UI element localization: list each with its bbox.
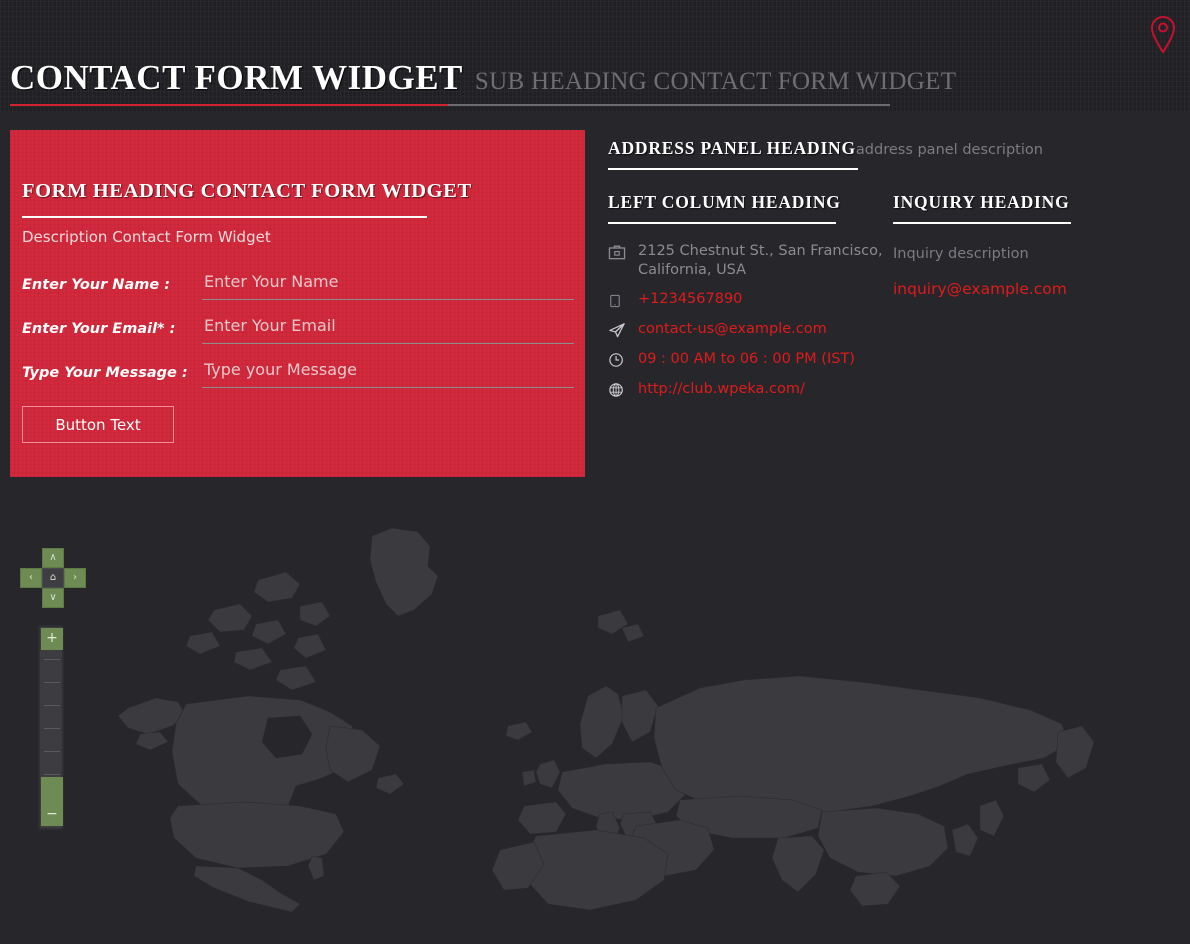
address-panel-heading-row: ADDRESS PANEL HEADING address panel desc…: [608, 138, 1168, 159]
map-pan-home-button[interactable]: ⌂: [42, 568, 64, 588]
address-right-column: INQUIRY HEADING Inquiry description inqu…: [893, 192, 1073, 410]
form-heading-divider: [22, 216, 427, 218]
page-subtitle: SUB HEADING CONTACT FORM WIDGET: [475, 68, 956, 96]
address-columns: LEFT COLUMN HEADING 2125 Chestnut St., S…: [608, 192, 1168, 410]
contact-item-hours: 09 : 00 AM to 06 : 00 PM (IST): [608, 350, 893, 370]
map-pan-pad[interactable]: ∧ ‹ ⌂ › ∨: [20, 548, 86, 610]
contact-item-website[interactable]: http://club.wpeka.com/: [608, 380, 893, 400]
map-zoom-tick: [44, 728, 60, 729]
map-pan-up-button[interactable]: ∧: [42, 548, 64, 568]
name-input[interactable]: [202, 270, 574, 300]
map-zoom-control[interactable]: + −: [38, 625, 64, 830]
address-panel-description: address panel description: [856, 142, 1043, 158]
contact-form-panel: FORM HEADING CONTACT FORM WIDGET Descrip…: [10, 130, 585, 477]
map-zoom-tick: [44, 751, 60, 752]
briefcase-icon: [608, 242, 632, 262]
map-pan-right-button[interactable]: ›: [64, 568, 86, 588]
inquiry-divider: [893, 222, 1071, 224]
mobile-phone-icon: [608, 290, 632, 310]
map-zoom-tick: [44, 705, 60, 706]
map-pin-icon: [1150, 15, 1176, 55]
map-pan-down-button[interactable]: ∨: [42, 588, 64, 608]
header-divider: [10, 104, 890, 106]
globe-icon: [608, 380, 632, 400]
inquiry-email[interactable]: inquiry@example.com: [893, 280, 1073, 298]
left-column-divider: [608, 222, 836, 224]
map-tiles: [0, 520, 1190, 912]
world-map[interactable]: ∧ ‹ ⌂ › ∨ + −: [0, 520, 1190, 912]
paper-plane-icon: [608, 320, 632, 340]
contact-item-address: 2125 Chestnut St., San Francisco, Califo…: [608, 242, 893, 280]
map-zoom-in-button[interactable]: +: [41, 628, 63, 650]
submit-button[interactable]: Button Text: [22, 406, 174, 443]
page-header: CONTACT FORM WIDGET SUB HEADING CONTACT …: [0, 0, 1190, 112]
map-zoom-tick: [44, 682, 60, 683]
form-row-name: Enter Your Name :: [22, 270, 574, 314]
form-row-message: Type Your Message :: [22, 358, 574, 402]
contact-item-email[interactable]: contact-us@example.com: [608, 320, 893, 340]
name-field-wrap: [202, 270, 574, 300]
email-input[interactable]: [202, 314, 574, 344]
name-label: Enter Your Name :: [22, 270, 202, 293]
message-label: Type Your Message :: [22, 358, 202, 381]
contact-email-text[interactable]: contact-us@example.com: [638, 320, 827, 339]
map-pan-left-button[interactable]: ‹: [20, 568, 42, 588]
contact-website-text[interactable]: http://club.wpeka.com/: [638, 380, 805, 399]
map-zoom-tick: [44, 659, 60, 660]
email-field-wrap: [202, 314, 574, 344]
address-panel-heading: ADDRESS PANEL HEADING: [608, 138, 856, 159]
contact-phone-text[interactable]: +1234567890: [638, 290, 742, 309]
form-row-email: Enter Your Email* :: [22, 314, 574, 358]
contact-hours-text: 09 : 00 AM to 06 : 00 PM (IST): [638, 350, 855, 369]
email-label: Enter Your Email* :: [22, 314, 202, 337]
contact-address-text: 2125 Chestnut St., San Francisco, Califo…: [638, 242, 893, 280]
map-zoom-tick: [44, 774, 60, 775]
left-column-heading: LEFT COLUMN HEADING: [608, 192, 893, 213]
form-heading: FORM HEADING CONTACT FORM WIDGET: [22, 180, 472, 203]
map-zoom-out-button[interactable]: −: [41, 804, 63, 826]
message-field-wrap: [202, 358, 574, 388]
inquiry-description: Inquiry description: [893, 246, 1073, 262]
inquiry-heading: INQUIRY HEADING: [893, 192, 1073, 213]
form-rows: Enter Your Name : Enter Your Email* : Ty…: [22, 270, 574, 402]
address-panel-divider: [608, 168, 858, 170]
contact-list: 2125 Chestnut St., San Francisco, Califo…: [608, 242, 893, 400]
address-left-column: LEFT COLUMN HEADING 2125 Chestnut St., S…: [608, 192, 893, 410]
map-zoom-slider-handle[interactable]: [41, 777, 63, 805]
address-panel: ADDRESS PANEL HEADING address panel desc…: [608, 138, 1168, 410]
form-description: Description Contact Form Widget: [22, 228, 271, 246]
page-title: CONTACT FORM WIDGET: [10, 58, 463, 98]
clock-icon: [608, 350, 632, 370]
header-titles: CONTACT FORM WIDGET SUB HEADING CONTACT …: [10, 58, 956, 98]
message-input[interactable]: [202, 358, 574, 388]
contact-item-phone[interactable]: +1234567890: [608, 290, 893, 310]
